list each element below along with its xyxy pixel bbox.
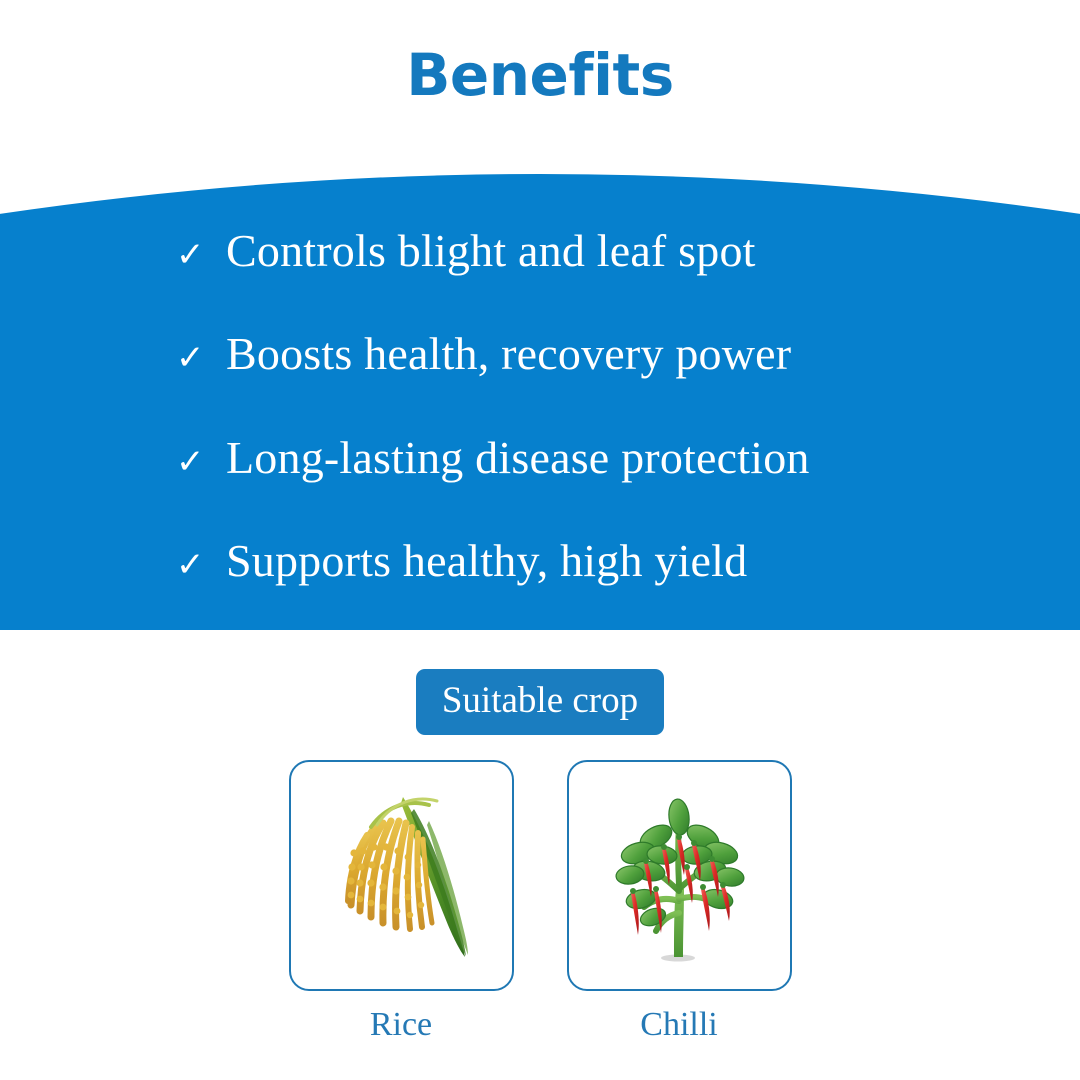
crop-label: Rice [370,1008,432,1042]
crop-card-rice[interactable]: Rice [289,760,514,1042]
benefit-item: ✓ Supports healthy, high yield [176,538,747,584]
chilli-plant-icon [594,781,764,971]
crop-card-chilli[interactable]: Chilli [567,760,792,1042]
benefit-item: ✓ Boosts health, recovery power [176,331,791,377]
rice-plant-icon [311,781,491,971]
crop-card-image-frame [567,760,792,991]
check-icon: ✓ [176,341,226,375]
check-icon: ✓ [176,238,226,272]
benefit-text: Boosts health, recovery power [226,331,791,377]
benefit-item: ✓ Controls blight and leaf spot [176,228,756,274]
benefit-item: ✓ Long-lasting disease protection [176,435,810,481]
crop-card-image-frame [289,760,514,991]
benefit-text: Controls blight and leaf spot [226,228,756,274]
benefits-list: ✓ Controls blight and leaf spot ✓ Boosts… [0,150,1080,630]
benefit-text: Supports healthy, high yield [226,538,747,584]
check-icon: ✓ [176,445,226,479]
benefit-text: Long-lasting disease protection [226,435,810,481]
check-icon: ✓ [176,548,226,582]
page-title: Benefits [0,46,1080,104]
crop-label: Chilli [640,1008,717,1042]
crop-card-list: Rice [0,760,1080,1042]
suitable-crop-badge-container: Suitable crop [0,669,1080,735]
benefits-poster: Benefits ✓ Controls blight and leaf spot… [0,0,1080,1080]
suitable-crop-badge: Suitable crop [416,669,664,735]
